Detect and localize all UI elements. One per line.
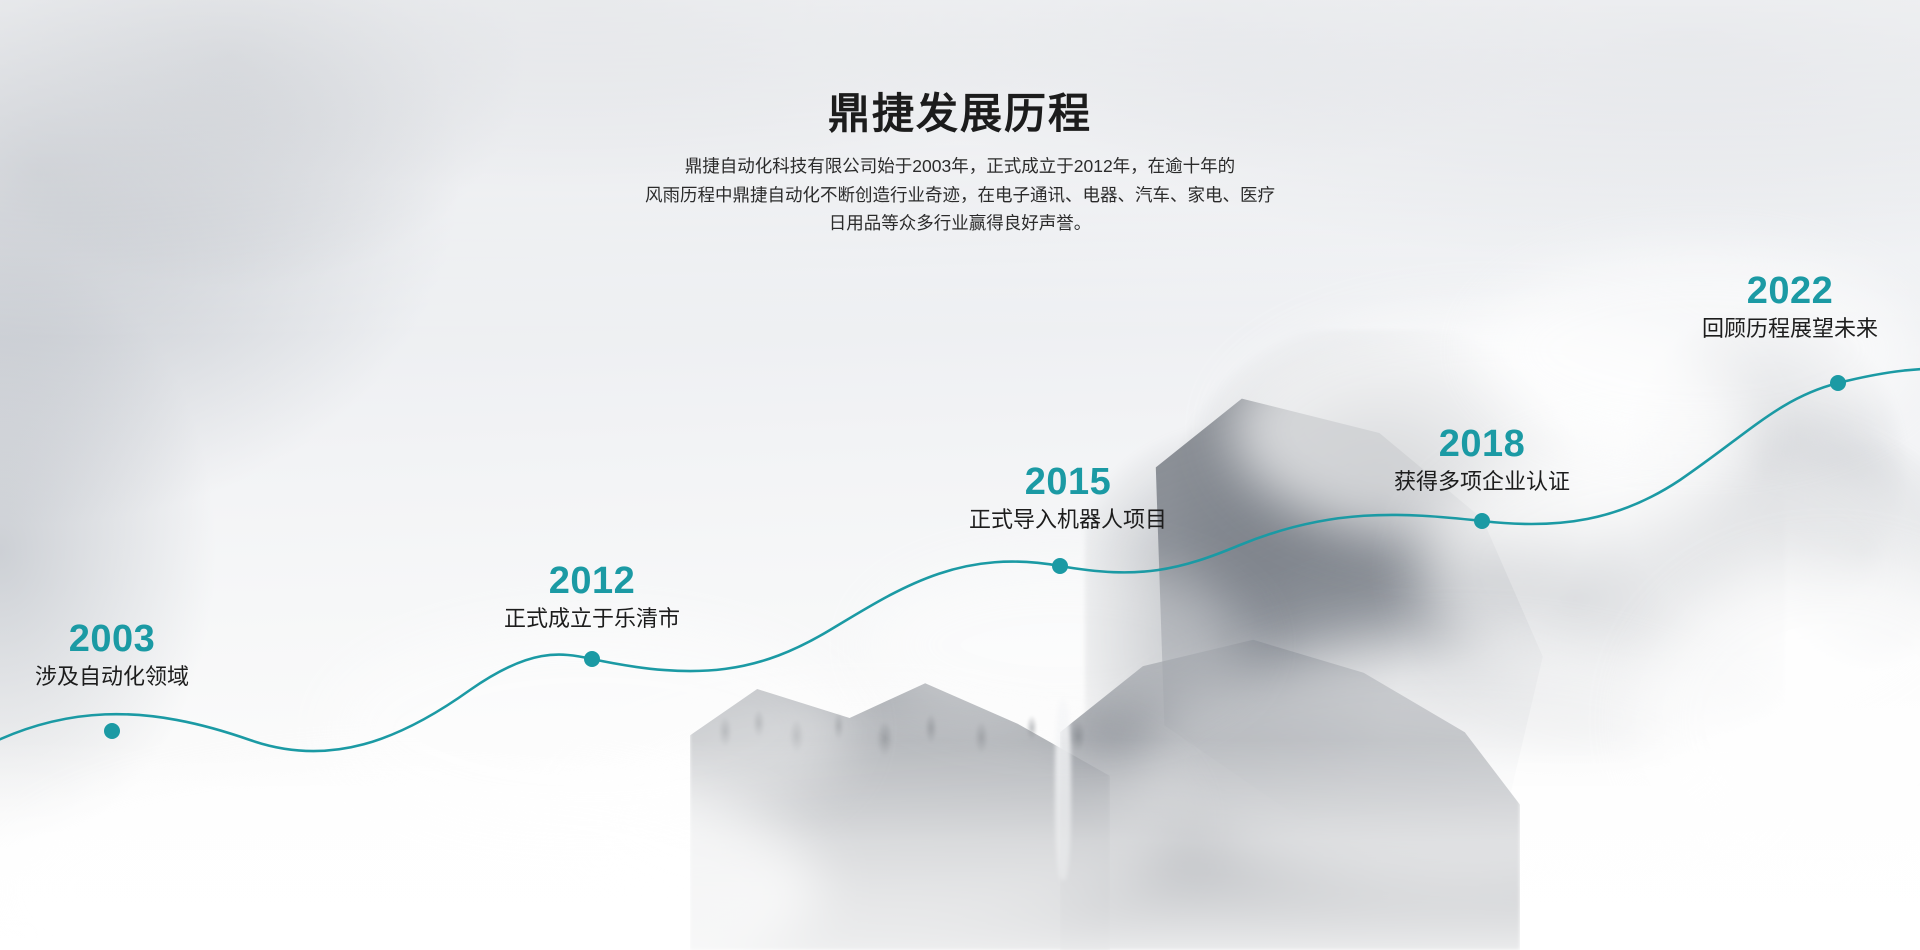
milestone-2012[interactable]: 2012 正式成立于乐清市 xyxy=(504,562,680,632)
page-subtitle: 鼎捷自动化科技有限公司始于2003年，正式成立于2012年，在逾十年的 风雨历程… xyxy=(0,152,1920,237)
subtitle-line-1: 鼎捷自动化科技有限公司始于2003年，正式成立于2012年，在逾十年的 xyxy=(0,152,1920,180)
milestone-2003[interactable]: 2003 涉及自动化领域 xyxy=(35,620,189,690)
milestone-description: 正式成立于乐清市 xyxy=(504,605,680,633)
milestone-year: 2012 xyxy=(504,562,680,602)
milestone-year: 2003 xyxy=(35,620,189,660)
timeline-infographic: 鼎捷发展历程 鼎捷自动化科技有限公司始于2003年，正式成立于2012年，在逾十… xyxy=(0,0,1920,950)
timeline-node-2015[interactable] xyxy=(1052,558,1068,574)
subtitle-line-2: 风雨历程中鼎捷自动化不断创造行业奇迹，在电子通讯、电器、汽车、家电、医疗 xyxy=(0,181,1920,209)
milestone-description: 回顾历程展望未来 xyxy=(1702,315,1878,343)
timeline-curve-path xyxy=(0,368,1920,760)
milestone-2015[interactable]: 2015 正式导入机器人项目 xyxy=(969,463,1167,533)
header-block: 鼎捷发展历程 鼎捷自动化科技有限公司始于2003年，正式成立于2012年，在逾十… xyxy=(0,90,1920,237)
timeline-node-2012[interactable] xyxy=(584,651,600,667)
milestone-2018[interactable]: 2018 获得多项企业认证 xyxy=(1394,425,1570,495)
milestone-description: 涉及自动化领域 xyxy=(35,663,189,691)
milestone-description: 获得多项企业认证 xyxy=(1394,468,1570,496)
page-title: 鼎捷发展历程 xyxy=(0,90,1920,138)
milestone-description: 正式导入机器人项目 xyxy=(969,506,1167,534)
timeline-node-2022[interactable] xyxy=(1830,375,1846,391)
subtitle-line-3: 日用品等众多行业赢得良好声誉。 xyxy=(0,209,1920,237)
milestone-year: 2022 xyxy=(1702,272,1878,312)
milestone-year: 2015 xyxy=(969,463,1167,503)
milestone-2022[interactable]: 2022 回顾历程展望未来 xyxy=(1702,272,1878,342)
timeline-node-2018[interactable] xyxy=(1474,513,1490,529)
milestone-year: 2018 xyxy=(1394,425,1570,465)
timeline-node-2003[interactable] xyxy=(104,723,120,739)
